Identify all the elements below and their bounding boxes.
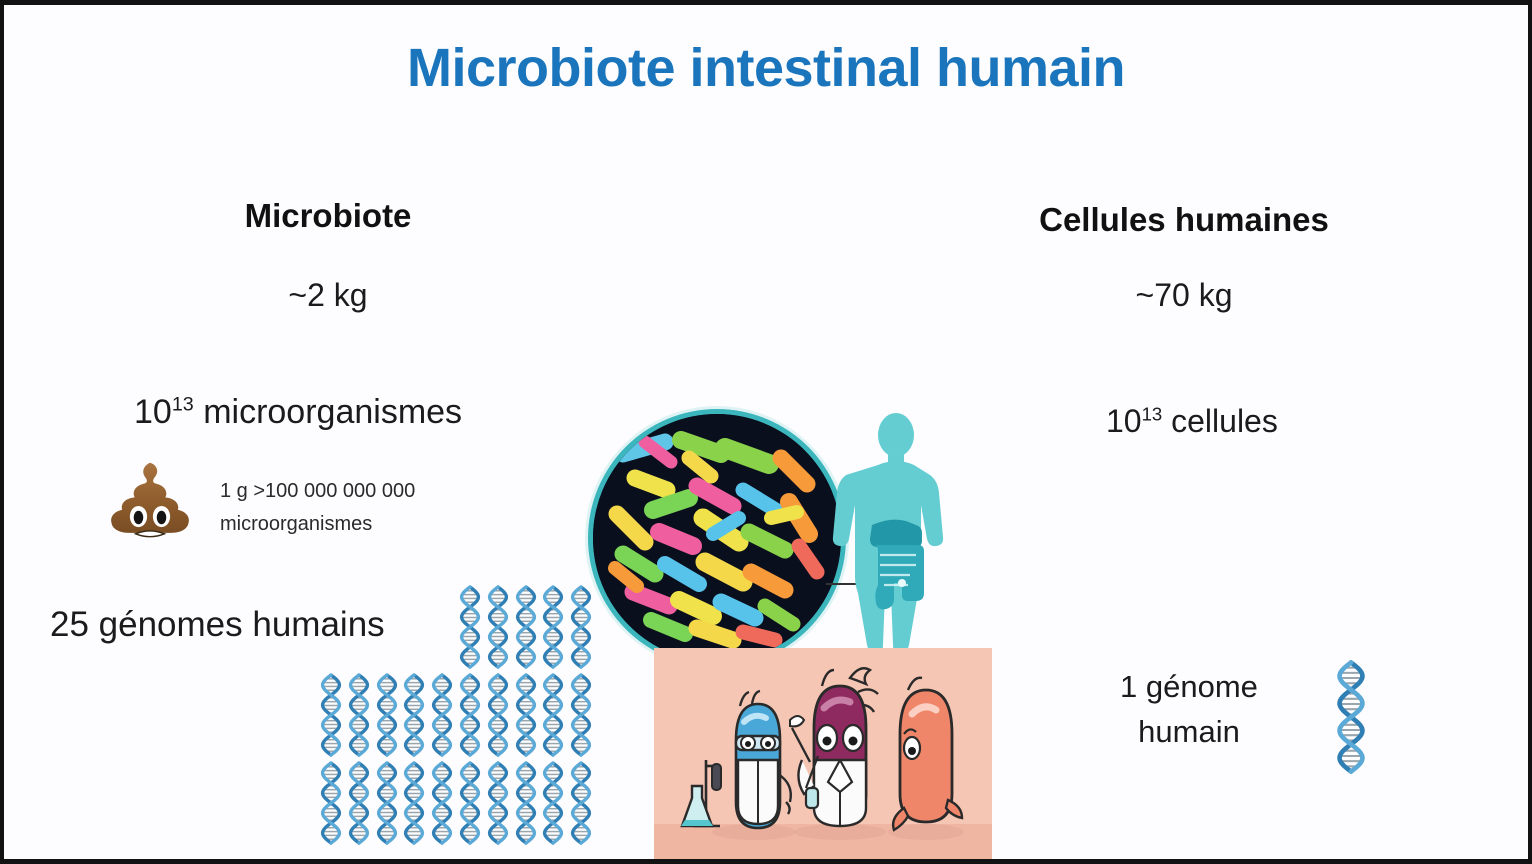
- dna-helix-icon: [318, 759, 346, 847]
- dna-helix-icon: [374, 759, 402, 847]
- human-body-silhouette: [830, 413, 962, 653]
- human-genome-label: 1 génome humain: [1084, 665, 1294, 755]
- dna-helix-icon: [485, 671, 513, 759]
- dna-helix-icon: [318, 671, 346, 759]
- dna-helix-icon: [429, 671, 457, 759]
- slide-frame: Microbiote intestinal humain Microbiote …: [0, 0, 1532, 864]
- dna-helix-icon: [513, 671, 541, 759]
- microbiote-column-heading: Microbiote: [218, 197, 438, 235]
- bacteria-scientists-cartoon: [654, 648, 992, 859]
- page-title: Microbiote intestinal humain: [4, 37, 1528, 99]
- dna-helix-icon: [540, 759, 568, 847]
- dna-helix-icon: [401, 759, 429, 847]
- microorganism-count-base: 10: [134, 393, 172, 431]
- dna-helix-icon: [568, 583, 596, 671]
- cellules-humaines-column-heading: Cellules humaines: [1014, 201, 1354, 239]
- dna-helix-icon: [513, 583, 541, 671]
- microorganism-count-exponent: 13: [172, 394, 194, 416]
- human-cells-count-unit: cellules: [1162, 403, 1278, 439]
- dna-helix-icon: [568, 671, 596, 759]
- dna-helix-grid: [318, 583, 596, 849]
- dna-helix-icon: [485, 759, 513, 847]
- dna-helix-row: [318, 583, 596, 671]
- dna-helix-icon: [401, 671, 429, 759]
- dna-helix-icon: [457, 583, 485, 671]
- slide-canvas: Microbiote intestinal humain Microbiote …: [4, 5, 1528, 859]
- dna-helix-icon: [429, 759, 457, 847]
- dna-helix-icon: [540, 583, 568, 671]
- dna-helix-icon: [346, 671, 374, 759]
- microbiote-weight-value: ~2 kg: [218, 277, 438, 314]
- microorganism-count-unit: microorganismes: [194, 393, 462, 431]
- dna-helix-row: [318, 671, 596, 759]
- poop-emoji-icon: [102, 457, 198, 553]
- dna-helix-icon: [457, 759, 485, 847]
- dna-helix-icon: [568, 759, 596, 847]
- gut-microbiota-circle-image: [593, 414, 841, 662]
- human-cells-weight-value: ~70 kg: [1014, 277, 1354, 314]
- dna-helix-icon: [485, 583, 513, 671]
- dna-helix-icon: [346, 759, 374, 847]
- human-cells-count-exponent: 13: [1142, 403, 1163, 424]
- human-cells-count: 1013 cellules: [1106, 403, 1278, 440]
- dna-helix-row: [318, 759, 596, 847]
- dna-helix-icon: [374, 671, 402, 759]
- microorganism-count: 1013 microorganismes: [134, 393, 462, 432]
- dna-helix-icon: [513, 759, 541, 847]
- dna-helix-icon: [457, 671, 485, 759]
- human-cells-count-base: 10: [1106, 403, 1142, 439]
- dna-helix-icon: [540, 671, 568, 759]
- dna-helix-single-icon: [1332, 657, 1372, 777]
- gram-note-text: 1 g >100 000 000 000 microorganismes: [220, 475, 520, 541]
